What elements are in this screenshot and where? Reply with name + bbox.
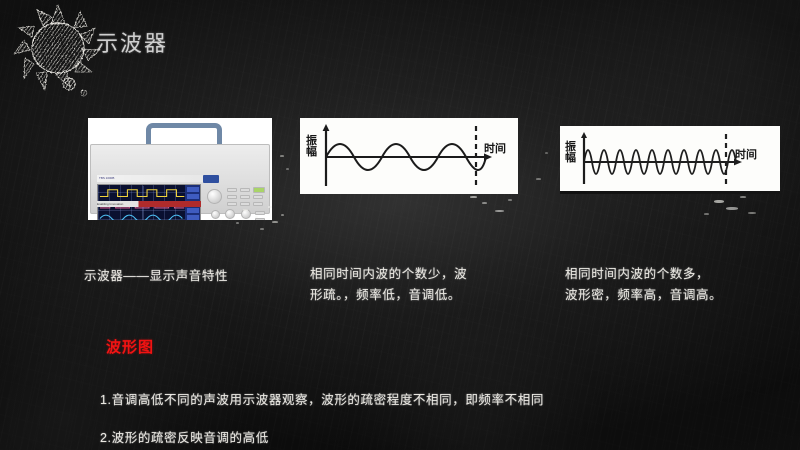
scope-logo-badge bbox=[203, 175, 219, 183]
waveform-low-svg bbox=[300, 118, 518, 194]
chalk-dust bbox=[272, 221, 278, 223]
chalk-dust bbox=[748, 212, 756, 214]
chalk-dust bbox=[508, 199, 512, 201]
conclusion-item-2: 2.波形的疏密反映音调的高低 bbox=[100, 429, 544, 448]
oscilloscope-photo: TBS 1000B Enabling Innovation bbox=[88, 118, 272, 220]
scope-brand-label: TBS 1000B bbox=[97, 175, 219, 182]
scope-button bbox=[253, 202, 263, 206]
waveform-high-y-axis-label: 振幅 bbox=[565, 142, 577, 164]
chalk-dust bbox=[281, 214, 284, 216]
scope-button bbox=[227, 195, 237, 199]
scope-control-panel bbox=[205, 183, 269, 220]
chalk-dust bbox=[714, 200, 724, 203]
chalk-dust bbox=[260, 228, 264, 230]
chalk-dust bbox=[545, 152, 548, 154]
scope-button bbox=[227, 188, 237, 192]
scope-knob bbox=[241, 209, 251, 219]
caption-oscilloscope: 示波器——显示声音特性 bbox=[84, 266, 228, 286]
waveform-low-y-axis-label: 振幅 bbox=[306, 136, 318, 158]
chalk-dust bbox=[726, 207, 738, 210]
scope-button bbox=[227, 202, 237, 206]
slide-canvas: 示波器 TBS 1000B Enabling Innovation bbox=[0, 0, 800, 450]
scope-button bbox=[255, 218, 265, 220]
waveform-low-frequency-diagram: 振幅 时间 bbox=[300, 118, 518, 194]
scope-button bbox=[255, 211, 265, 215]
scope-run-button bbox=[253, 187, 265, 193]
chalk-dust bbox=[286, 168, 289, 170]
waveform-high-frequency-diagram: 振幅 时间 bbox=[560, 126, 780, 194]
chalk-dust bbox=[536, 178, 541, 180]
scope-main-knob bbox=[207, 189, 222, 204]
scope-knob bbox=[225, 209, 235, 219]
section-heading-waveform-chart: 波形图 bbox=[106, 336, 154, 357]
chalk-dust bbox=[236, 222, 239, 224]
caption-low-frequency: 相同时间内波的个数少，波 形疏。，频率低，音调低。 bbox=[310, 264, 467, 306]
conclusion-list: 1.音调高低不同的声波用示波器观察，波形的疏密程度不相同，即频率不相同 2.波形… bbox=[100, 372, 544, 450]
waveform-high-x-axis-label: 时间 bbox=[735, 150, 757, 161]
scope-knob bbox=[211, 210, 220, 219]
scope-button bbox=[253, 195, 263, 199]
scope-footer-label: Enabling Innovation bbox=[97, 201, 201, 207]
scope-button bbox=[240, 195, 250, 199]
chalk-dust bbox=[704, 213, 709, 215]
chalk-dust bbox=[740, 196, 746, 198]
conclusion-item-1: 1.音调高低不同的声波用示波器观察，波形的疏密程度不相同，即频率不相同 bbox=[100, 391, 544, 410]
chalk-dust bbox=[470, 196, 477, 198]
scope-body: TBS 1000B Enabling Innovation bbox=[90, 144, 270, 214]
chalk-sun-doodle bbox=[12, 2, 104, 98]
caption-high-frequency: 相同时间内波的个数多， 波形密，频率高，音调高。 bbox=[565, 264, 722, 306]
waveform-low-x-axis-label: 时间 bbox=[484, 144, 506, 155]
chalk-dust bbox=[495, 210, 504, 212]
sun-rays bbox=[14, 5, 100, 90]
chalk-dust bbox=[280, 155, 284, 157]
sun-bubbles bbox=[63, 78, 87, 96]
scope-button bbox=[240, 188, 250, 192]
page-title: 示波器 bbox=[96, 26, 168, 58]
scope-button bbox=[240, 202, 250, 206]
chalk-dust bbox=[482, 202, 487, 204]
